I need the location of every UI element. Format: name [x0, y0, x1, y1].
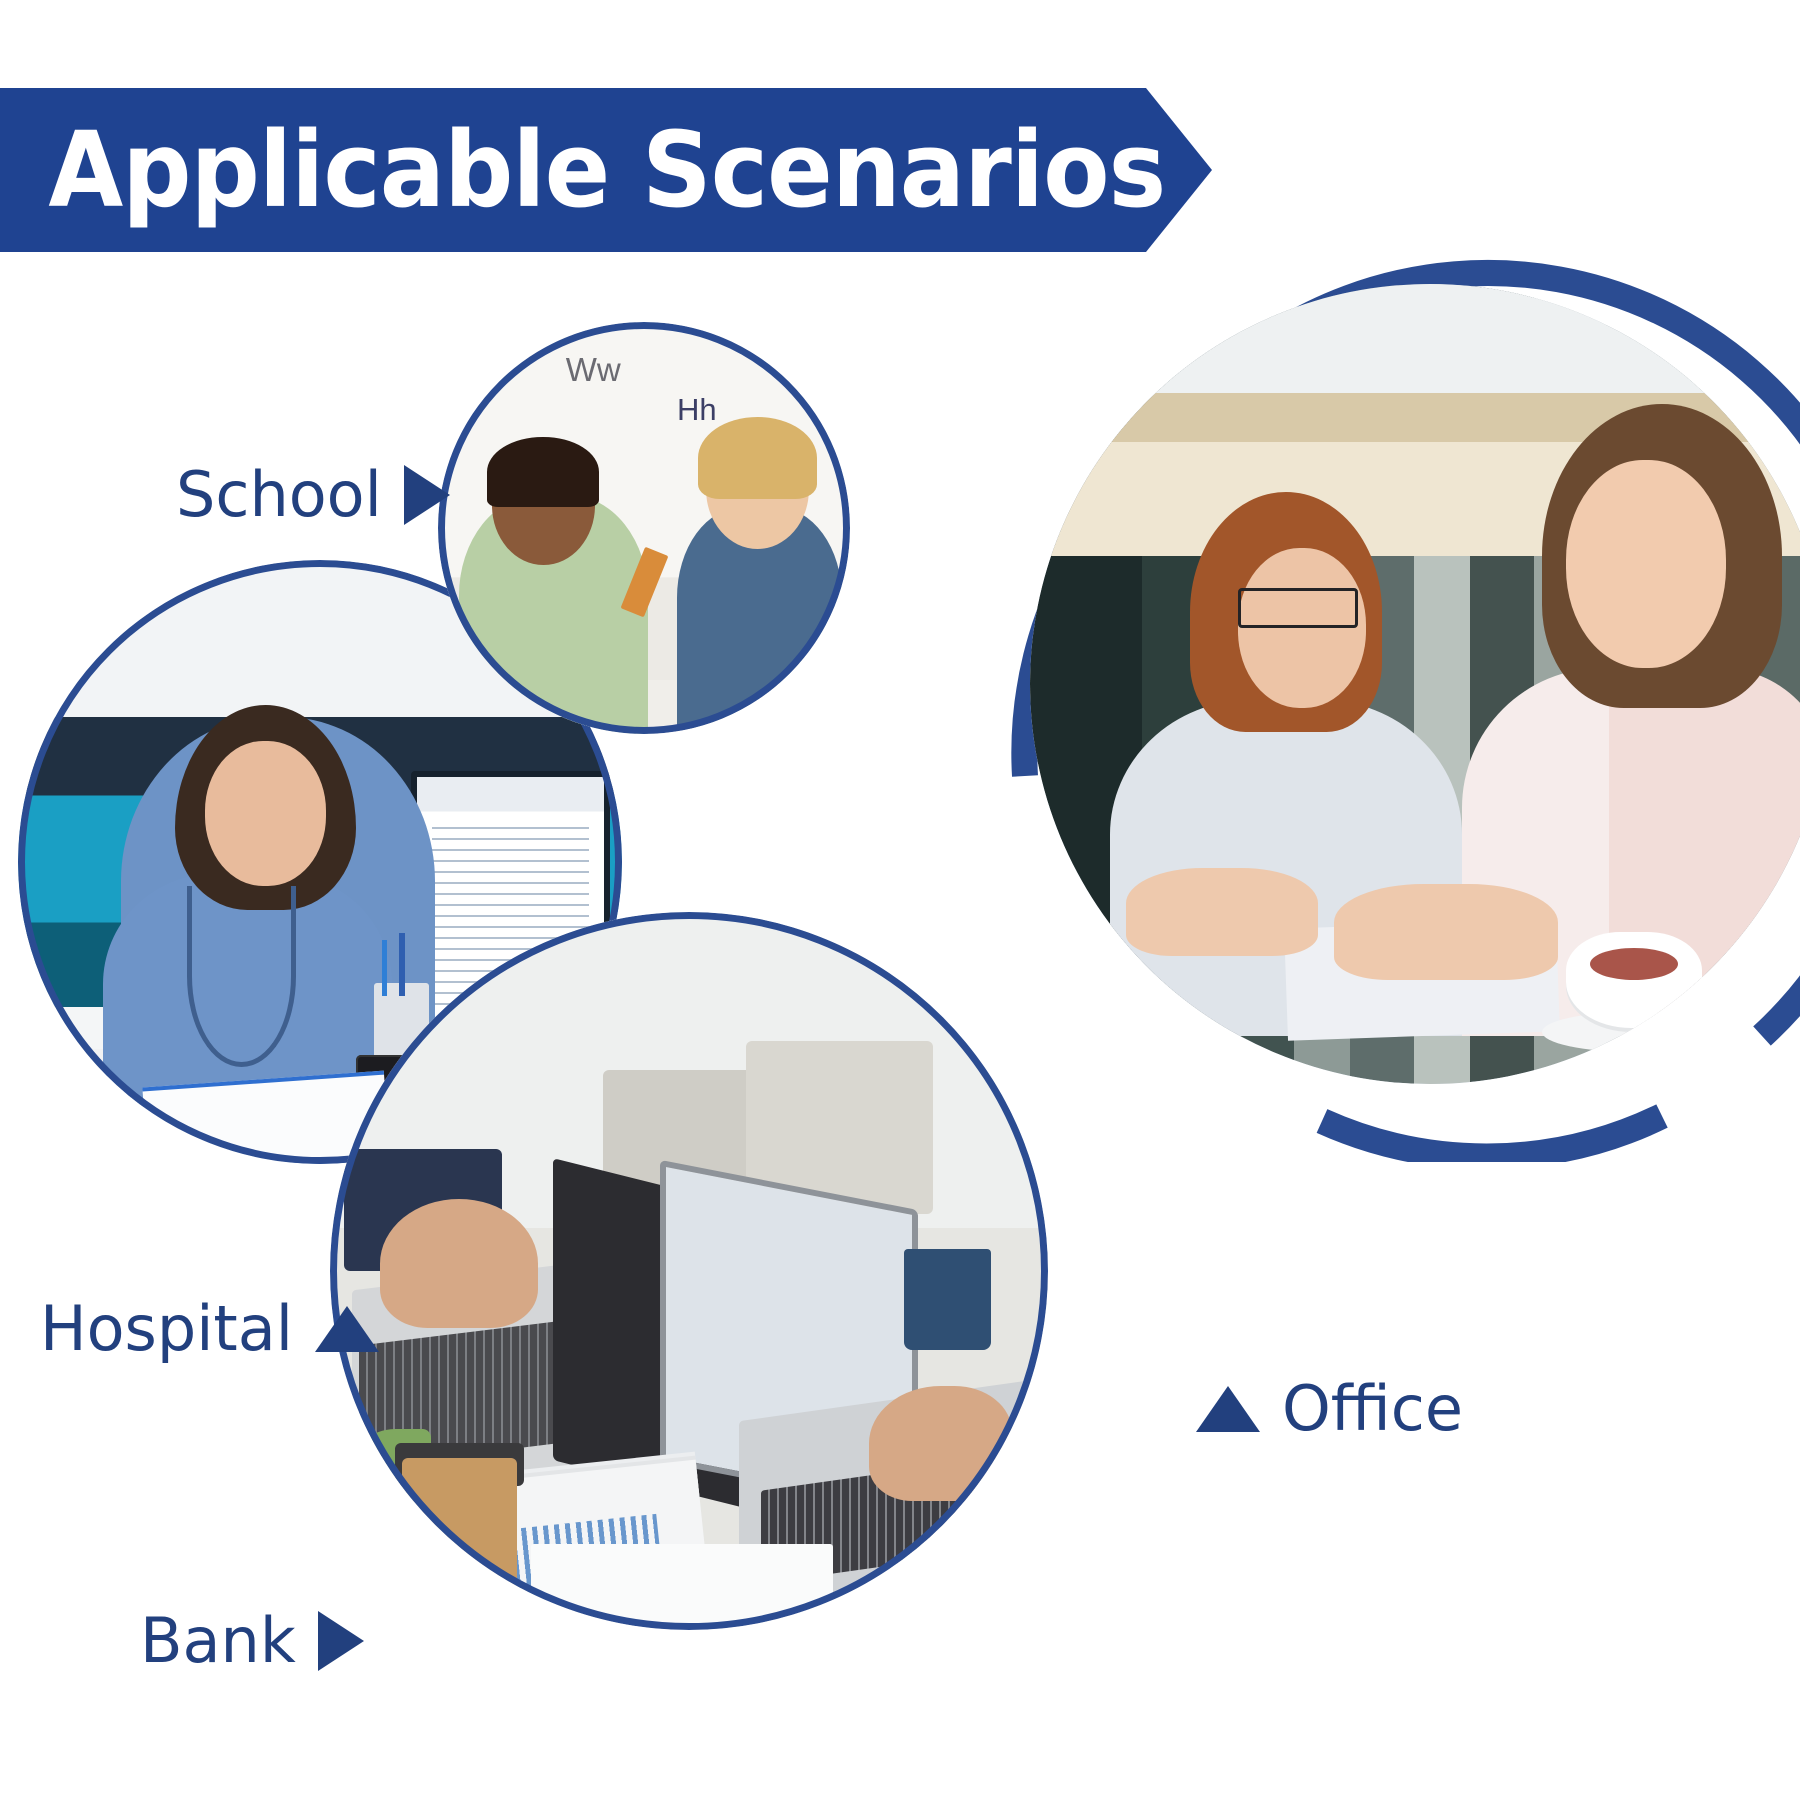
triangle-up-icon	[1196, 1386, 1260, 1432]
poster-canvas: Applicable Scenarios	[0, 0, 1800, 1800]
bank-coffee-cup	[402, 1458, 517, 1616]
office-teacup	[1566, 932, 1702, 1028]
stethoscope-icon	[187, 886, 296, 1067]
office-hands-left	[1126, 868, 1318, 956]
bank-hand-left	[380, 1199, 538, 1328]
bank-photo	[330, 912, 1048, 1630]
scenario-photo-office	[1030, 284, 1800, 1084]
scenario-label-bank: Bank	[140, 1610, 364, 1672]
triangle-up-icon	[315, 1306, 379, 1352]
bank-hand-right	[869, 1386, 1013, 1501]
office-photo	[1030, 284, 1800, 1084]
hospital-nurse-face	[205, 741, 326, 886]
scenario-label-hospital-text: Hospital	[40, 1298, 293, 1360]
bank-open-notebook	[531, 1544, 833, 1630]
school-child1-hair	[487, 437, 598, 507]
office-hands-right	[1334, 884, 1558, 980]
office-tea-surface	[1590, 948, 1678, 980]
scenario-label-school: School	[176, 464, 450, 526]
bank-mug	[904, 1249, 990, 1350]
scenario-photo-bank	[330, 912, 1048, 1630]
office-person2-face	[1566, 460, 1726, 668]
scenario-label-office: Office	[1196, 1378, 1463, 1440]
school-photo: Ww Hh	[438, 322, 850, 734]
triangle-right-icon	[404, 465, 450, 525]
school-child2-hair	[698, 417, 817, 499]
scenario-label-bank-text: Bank	[140, 1610, 296, 1672]
scenario-label-hospital: Hospital	[40, 1298, 379, 1360]
whiteboard-letter-hh: Hh	[677, 392, 717, 428]
scenario-label-school-text: School	[176, 464, 382, 526]
page-title: Applicable Scenarios	[0, 118, 1165, 222]
whiteboard-letter-ww: Ww	[566, 351, 621, 389]
scenario-photo-school: Ww Hh	[438, 322, 850, 734]
scenario-label-office-text: Office	[1282, 1378, 1463, 1440]
office-person1-glasses	[1238, 588, 1358, 628]
triangle-right-icon	[318, 1611, 364, 1671]
office-person1-face	[1238, 548, 1366, 708]
